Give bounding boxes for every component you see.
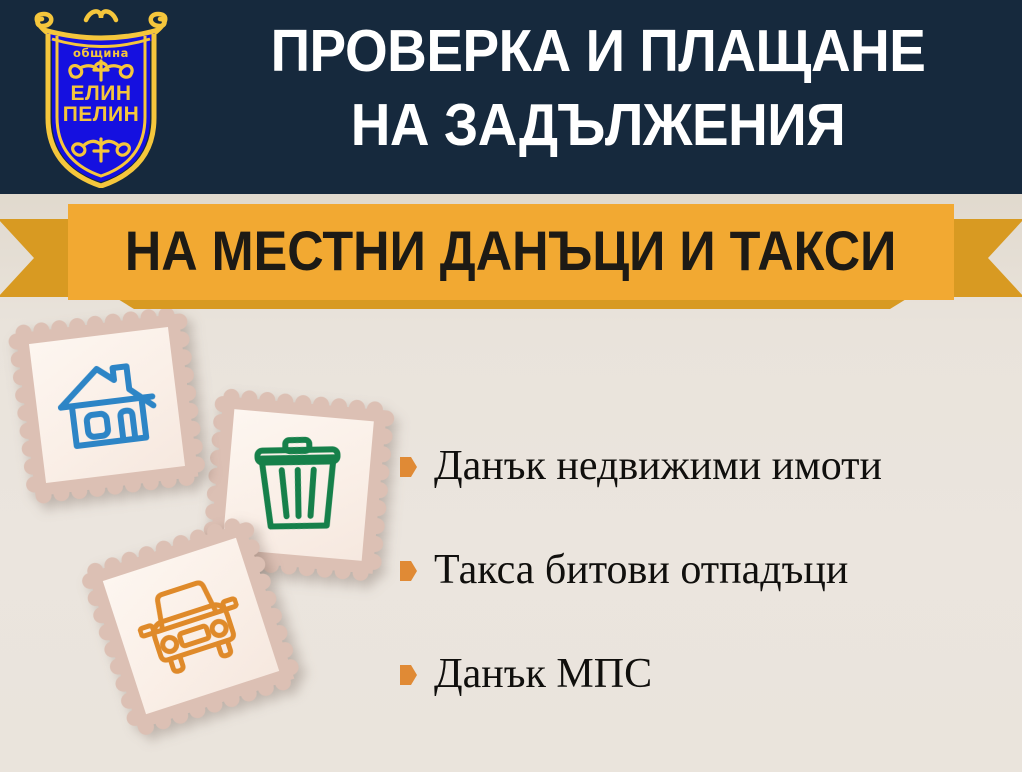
municipality-crest-logo: община ЕЛИН ПЕЛИН (28, 6, 174, 188)
page-title: ПРОВЕРКА И ПЛАЩАНЕ НА ЗАДЪЛЖЕНИЯ (217, 14, 980, 162)
arrow-bullet-icon (398, 663, 418, 687)
list-item[interactable]: Такса битови отпадъци (398, 518, 1008, 622)
list-item-label: Данък МПС (434, 651, 652, 697)
list-item-label: Такса битови отпадъци (434, 547, 848, 593)
house-icon (50, 352, 165, 458)
list-item-label: Данък недвижими имоти (434, 443, 882, 489)
list-item[interactable]: Данък МПС (398, 622, 1008, 726)
header-bar: община ЕЛИН ПЕЛИН ПРОВЕРКА И ПЛАЩАНЕ НА … (0, 0, 1022, 194)
list-item[interactable]: Данък недвижими имоти (398, 414, 1008, 518)
stamp-paper-house (29, 327, 185, 483)
subtitle-ribbon: НА МЕСТНИ ДАНЪЦИ И ТАКСИ (0, 203, 1022, 309)
ribbon-band: НА МЕСТНИ ДАНЪЦИ И ТАКСИ (68, 204, 954, 300)
trash-icon (248, 432, 348, 538)
car-icon (128, 569, 253, 683)
stamp-card-house (3, 301, 210, 508)
arrow-bullet-icon (398, 455, 418, 479)
tax-type-list: Данък недвижими имоти Такса битови отпад… (398, 414, 1008, 726)
ribbon-subtitle-text: НА МЕСТНИ ДАНЪЦИ И ТАКСИ (125, 218, 896, 286)
poster-canvas: община ЕЛИН ПЕЛИН ПРОВЕРКА И ПЛАЩАНЕ НА … (0, 0, 1022, 772)
arrow-bullet-icon (398, 559, 418, 583)
page-title-line1: ПРОВЕРКА И ПЛАЩАНЕ (271, 18, 926, 84)
page-title-line2: НА ЗАДЪЛЖЕНИЯ (217, 88, 980, 162)
